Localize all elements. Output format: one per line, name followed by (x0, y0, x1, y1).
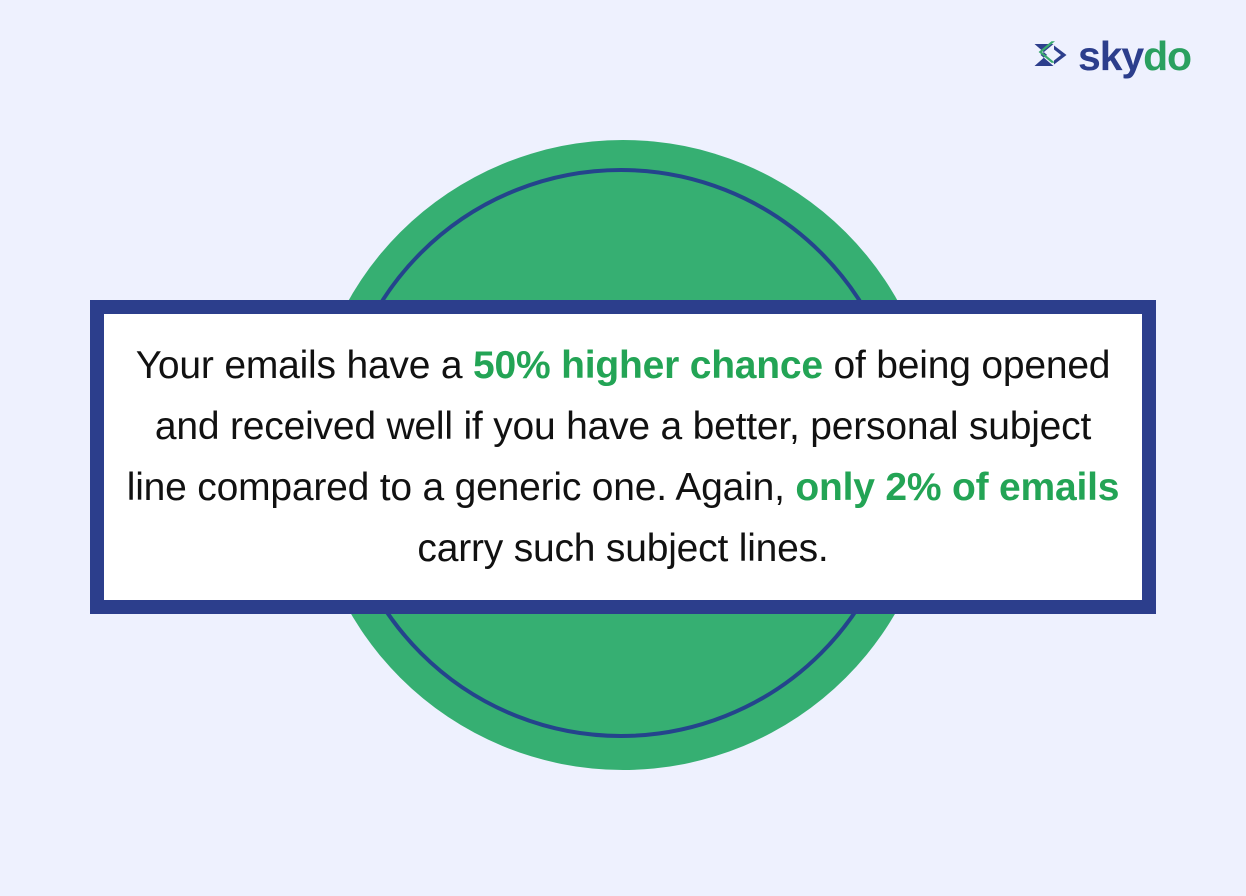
brand-logo[interactable]: skydo (1033, 31, 1191, 79)
double-chevron-right-icon (1033, 39, 1069, 71)
quote-text: Your emails have a 50% higher chance of … (104, 335, 1142, 579)
quote-segment-3: carry such subject lines. (417, 527, 828, 570)
brand-word-part-2: do (1143, 33, 1191, 79)
quote-highlight-2: only 2% of emails (795, 466, 1119, 509)
quote-segment-1: Your emails have a (136, 344, 473, 387)
brand-wordmark: skydo (1078, 36, 1191, 77)
quote-highlight-1: 50% higher chance (473, 344, 823, 387)
brand-word-part-1: sky (1078, 33, 1143, 79)
slide-canvas: Your emails have a 50% higher chance of … (0, 0, 1246, 896)
quote-card: Your emails have a 50% higher chance of … (90, 300, 1156, 614)
